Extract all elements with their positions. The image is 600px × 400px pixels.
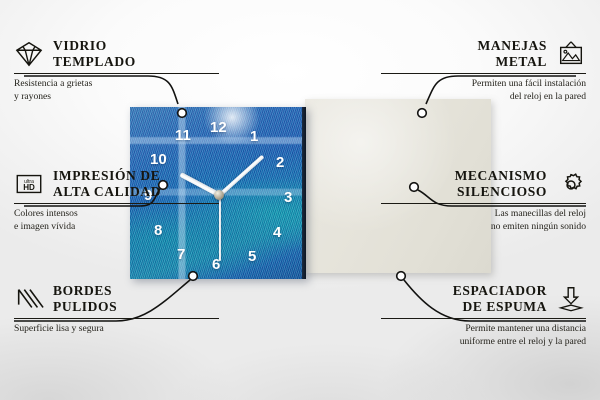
feature-title-line-1: IMPRESIÓN DE [53, 168, 161, 184]
feature-description-line-1: Colores intensos [14, 208, 219, 221]
feature-description: Las manecillas del reloj no emiten ningú… [381, 208, 586, 234]
feature-espaciador-de-espuma: ESPACIADOR DE ESPUMA Permite mantener un… [381, 283, 586, 349]
ultra-hd-badge-icon: ultra HD [14, 169, 44, 199]
feature-description-line-1: Superficie lisa y segura [14, 323, 219, 336]
feature-underline [381, 73, 586, 74]
feature-title-line-2: TEMPLADO [53, 54, 136, 70]
feature-header: BORDES PULIDOS [14, 283, 219, 314]
feature-title-line-2: PULIDOS [53, 299, 117, 315]
clock-number-5: 5 [248, 249, 256, 264]
feature-impresion-alta-calidad: ultra HD IMPRESIÓN DE ALTA CALIDAD Color… [14, 168, 219, 234]
feature-title-line-1: VIDRIO [53, 38, 136, 54]
feature-description: Permite mantener una distancia uniforme … [381, 323, 586, 349]
feature-title: ESPACIADOR DE ESPUMA [453, 283, 547, 314]
svg-text:HD: HD [23, 183, 35, 192]
feature-title-line-1: MECANISMO [455, 168, 547, 184]
feature-title-line-2: DE ESPUMA [453, 299, 547, 315]
feature-description: Permiten una fácil instalación del reloj… [381, 78, 586, 104]
clock-number-7: 7 [177, 247, 185, 262]
clock-number-11: 11 [175, 128, 191, 143]
feature-header: ESPACIADOR DE ESPUMA [381, 283, 586, 314]
feature-title-line-1: ESPACIADOR [453, 283, 547, 299]
feature-description: Superficie lisa y segura [14, 323, 219, 336]
feature-description-line-1: Las manecillas del reloj [381, 208, 586, 221]
feature-manejas-metal: MANEJAS METAL Permiten una fácil instala… [381, 38, 586, 104]
picture-hanger-icon [556, 39, 586, 69]
diagonal-lines-icon [14, 284, 44, 314]
arrow-down-layers-icon [556, 284, 586, 314]
feature-title: MANEJAS METAL [478, 38, 547, 69]
feature-underline [14, 318, 219, 319]
feature-description: Resistencia a grietas y rayones [14, 78, 219, 104]
feature-header: ultra HD IMPRESIÓN DE ALTA CALIDAD [14, 168, 219, 199]
feature-bordes-pulidos: BORDES PULIDOS Superficie lisa y segura [14, 283, 219, 336]
clock-number-12: 12 [210, 120, 227, 135]
feature-description-line-2: uniforme entre el reloj y la pared [381, 336, 586, 349]
feature-header: MECANISMO SILENCIOSO [381, 168, 586, 199]
gear-icon [556, 169, 586, 199]
feature-underline [14, 73, 219, 74]
infographic-canvas: 12 1 2 3 4 5 6 7 8 9 10 11 [0, 0, 600, 400]
clock-number-10: 10 [150, 152, 167, 167]
clock-glass-edge [302, 107, 306, 279]
feature-title-line-1: BORDES [53, 283, 117, 299]
feature-title: MECANISMO SILENCIOSO [455, 168, 547, 199]
feature-title: BORDES PULIDOS [53, 283, 117, 314]
feature-title: VIDRIO TEMPLADO [53, 38, 136, 69]
feature-underline [381, 203, 586, 204]
clock-number-4: 4 [273, 225, 281, 240]
feature-description-line-2: no emiten ningún sonido [381, 221, 586, 234]
feature-description-line-2: y rayones [14, 91, 219, 104]
clock-second-hand [219, 195, 221, 261]
clock-number-2: 2 [276, 155, 284, 170]
clock-number-3: 3 [284, 190, 292, 205]
feature-underline [381, 318, 586, 319]
feature-description-line-1: Permiten una fácil instalación [381, 78, 586, 91]
feature-header: MANEJAS METAL [381, 38, 586, 69]
feature-header: VIDRIO TEMPLADO [14, 38, 219, 69]
feature-title: IMPRESIÓN DE ALTA CALIDAD [53, 168, 161, 199]
feature-mecanismo-silencioso: MECANISMO SILENCIOSO Las manecillas del … [381, 168, 586, 234]
feature-underline [14, 203, 219, 204]
feature-description-line-2: e imagen vívida [14, 221, 219, 234]
feature-description: Colores intensos e imagen vívida [14, 208, 219, 234]
feature-vidrio-templado: VIDRIO TEMPLADO Resistencia a grietas y … [14, 38, 219, 104]
feature-title-line-2: ALTA CALIDAD [53, 184, 161, 200]
feature-title-line-2: SILENCIOSO [455, 184, 547, 200]
diamond-icon [14, 39, 44, 69]
feature-description-line-1: Permite mantener una distancia [381, 323, 586, 336]
clock-number-1: 1 [250, 129, 258, 144]
feature-description-line-2: del reloj en la pared [381, 91, 586, 104]
feature-description-line-1: Resistencia a grietas [14, 78, 219, 91]
feature-title-line-2: METAL [478, 54, 547, 70]
feature-title-line-1: MANEJAS [478, 38, 547, 54]
